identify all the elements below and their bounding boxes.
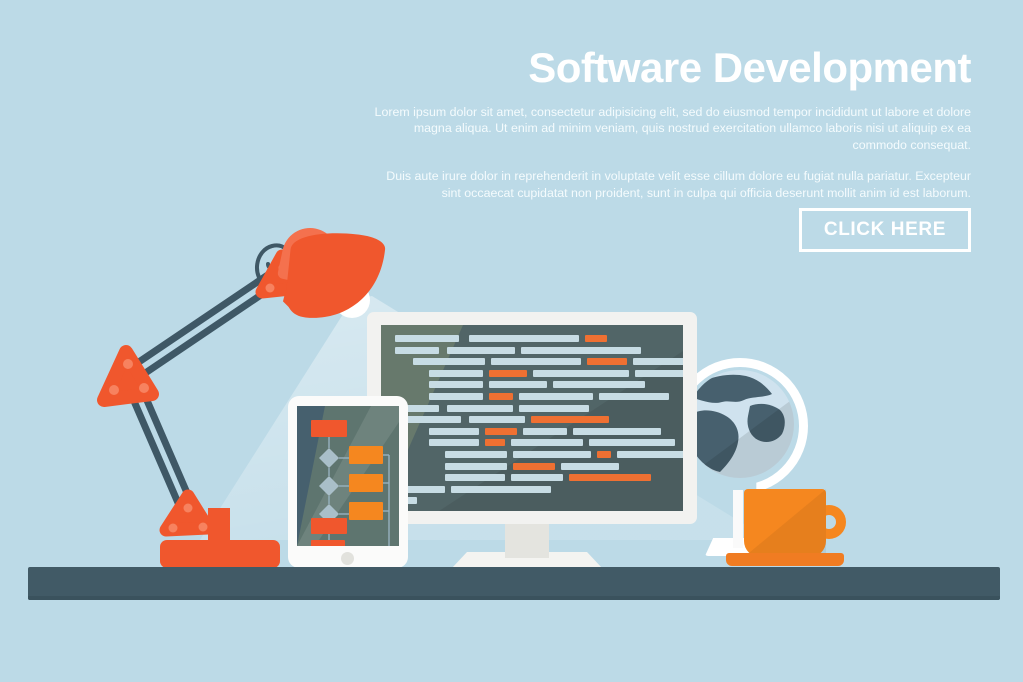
code-line-segment [445,474,505,481]
flowchart-process-node [349,502,383,520]
code-line-segment [633,358,683,365]
cup-body [744,489,826,557]
flowchart-process-node [311,540,345,546]
code-line-segment [447,405,513,412]
code-line-segment [445,463,507,470]
code-line-segment [489,393,513,400]
flowchart-process-node [349,474,383,492]
code-line-segment [429,428,479,435]
globe-stem [733,490,743,548]
page-title: Software Development [371,44,971,92]
code-line-segment [533,370,629,377]
paragraph-2: Duis aute irure dolor in reprehenderit i… [371,168,971,201]
code-line-segment [511,439,583,446]
code-line-segment [489,370,527,377]
code-line-segment [513,451,591,458]
code-line-segment [447,347,515,354]
code-line-segment [561,463,619,470]
code-line-segment [523,428,567,435]
code-line-segment [617,451,683,458]
click-here-button[interactable]: CLICK HERE [799,208,971,252]
code-line-segment [413,358,485,365]
code-line-segment [469,416,525,423]
code-line-segment [635,370,683,377]
code-line-segment [429,381,483,388]
code-line-segment [395,335,459,342]
tablet-home-button[interactable] [341,552,354,565]
code-line-segment [491,358,581,365]
code-line-segment [451,486,551,493]
code-line-segment [519,405,589,412]
illustration-canvas: Software Development Lorem ipsum dolor s… [0,0,1023,682]
code-line-segment [429,439,479,446]
code-line-segment [599,393,669,400]
code-line-segment [597,451,611,458]
tablet-screen [297,406,399,546]
flowchart-process-node [349,446,383,464]
code-line-segment [519,393,593,400]
code-line-segment [589,439,675,446]
code-line-segment [521,347,641,354]
monitor-code-lines [381,325,683,511]
tablet-flowchart [297,406,399,546]
flowchart-decision-node [319,476,339,496]
code-line-segment [429,370,483,377]
flowchart-process-node [311,518,347,534]
code-line-segment [531,416,609,423]
code-line-segment [485,428,517,435]
code-line-segment [395,347,439,354]
flowchart-decision-node [319,448,339,468]
paragraph-1: Lorem ipsum dolor sit amet, consectetur … [371,104,971,153]
code-line-segment [513,463,555,470]
lamp-base [160,540,280,568]
code-line-segment [429,393,483,400]
code-line-segment [469,335,579,342]
code-line-segment [573,428,661,435]
code-line-segment [569,474,651,481]
flowchart-process-node [311,420,347,437]
monitor-screen [381,325,683,511]
monitor-neck [505,524,549,558]
code-line-segment [553,381,645,388]
cup-saucer [726,553,844,566]
copy-block: Software Development Lorem ipsum dolor s… [371,44,971,201]
code-line-segment [587,358,627,365]
code-line-segment [585,335,607,342]
desk-edge [28,596,1000,600]
code-line-segment [511,474,563,481]
code-line-segment [445,451,507,458]
code-line-segment [489,381,547,388]
code-line-segment [485,439,505,446]
